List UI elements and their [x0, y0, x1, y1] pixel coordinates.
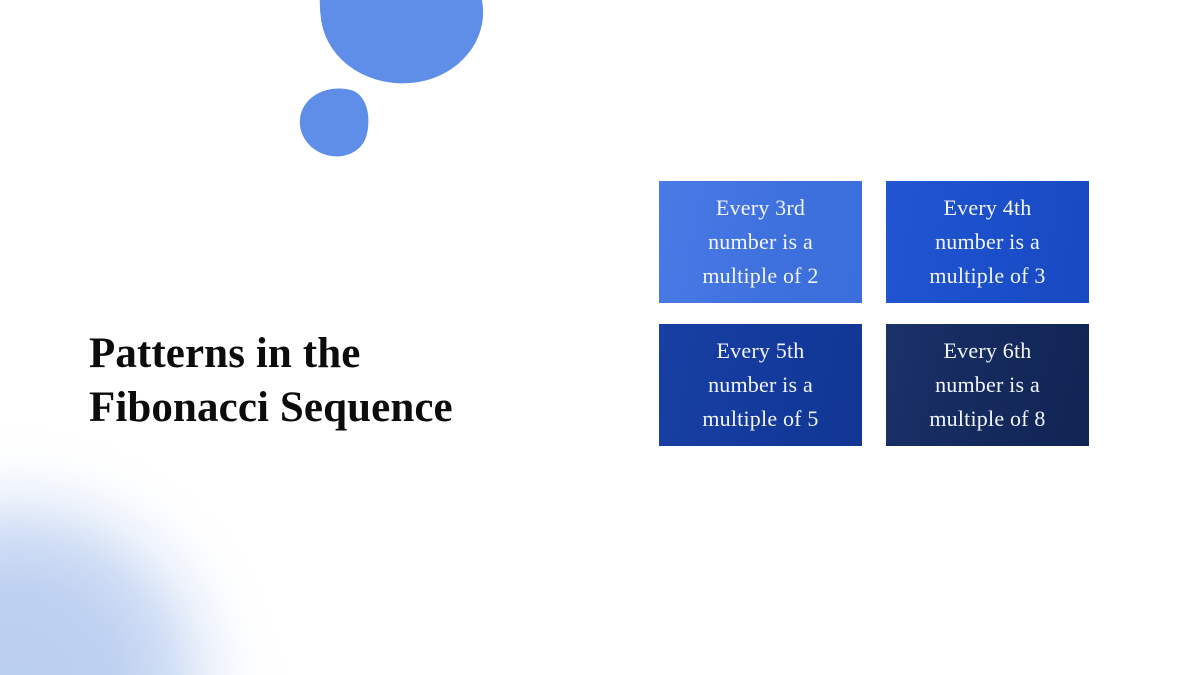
fact-card-grid: Every 3rd number is a multiple of 2 Ever…	[659, 181, 1089, 446]
fact-card-every-5th: Every 5th number is a multiple of 5	[659, 324, 862, 446]
fact-card-line-2: number is a	[935, 229, 1040, 254]
title-block: Patterns in the Fibonacci Sequence	[89, 327, 569, 435]
fact-card-text: Every 3rd number is a multiple of 2	[702, 191, 818, 293]
fact-card-line-2: number is a	[935, 372, 1040, 397]
fact-card-text: Every 4th number is a multiple of 3	[929, 191, 1045, 293]
fact-card-line-1: Every 3rd	[716, 195, 805, 220]
fact-card-line-1: Every 5th	[717, 338, 805, 363]
slide-canvas: Patterns in the Fibonacci Sequence Every…	[0, 0, 1200, 675]
fact-card-text: Every 6th number is a multiple of 8	[929, 334, 1045, 436]
blob-large-shape	[305, 0, 493, 96]
fact-card-every-4th: Every 4th number is a multiple of 3	[886, 181, 1089, 303]
fact-card-line-3: multiple of 8	[929, 406, 1045, 431]
fact-card-line-3: multiple of 5	[702, 406, 818, 431]
page-title-line-1: Patterns in the	[89, 327, 569, 381]
fact-card-line-3: multiple of 3	[929, 263, 1045, 288]
fact-card-line-2: number is a	[708, 229, 813, 254]
fact-card-line-2: number is a	[708, 372, 813, 397]
fact-card-every-3rd: Every 3rd number is a multiple of 2	[659, 181, 862, 303]
page-title: Patterns in the Fibonacci Sequence	[89, 327, 569, 435]
fact-card-line-1: Every 4th	[944, 195, 1032, 220]
blob-small-shape	[293, 80, 377, 164]
page-title-line-2: Fibonacci Sequence	[89, 381, 569, 435]
fact-card-text: Every 5th number is a multiple of 5	[702, 334, 818, 436]
fact-card-line-1: Every 6th	[944, 338, 1032, 363]
fact-card-line-3: multiple of 2	[702, 263, 818, 288]
fact-card-every-6th: Every 6th number is a multiple of 8	[886, 324, 1089, 446]
